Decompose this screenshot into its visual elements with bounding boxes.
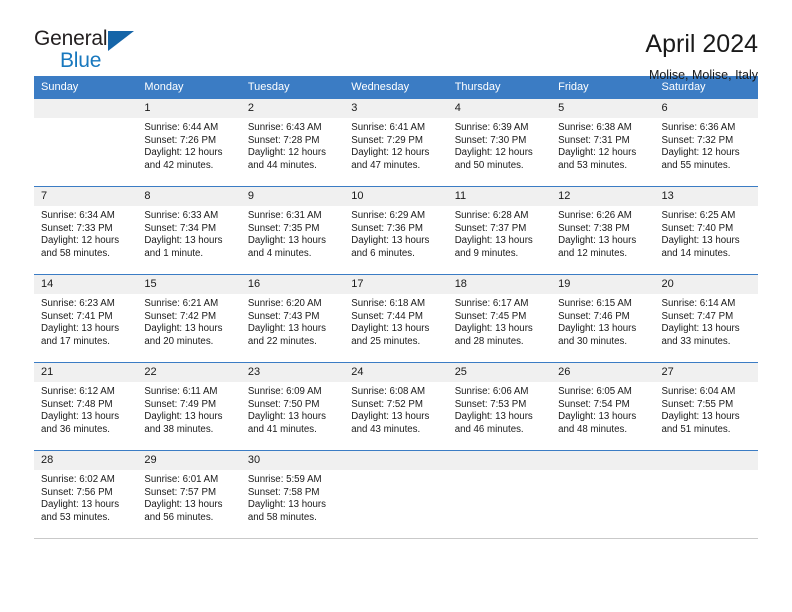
day-info-line: Daylight: 13 hours xyxy=(455,411,545,424)
day-cell[interactable]: 12Sunrise: 6:26 AMSunset: 7:38 PMDayligh… xyxy=(551,186,654,274)
day-info-line: Daylight: 13 hours xyxy=(558,411,648,424)
day-info-line: and 46 minutes. xyxy=(455,424,545,437)
day-info-line: Sunset: 7:38 PM xyxy=(558,223,648,236)
day-info-line: Sunset: 7:54 PM xyxy=(558,399,648,412)
day-sun-info: Sunrise: 6:02 AMSunset: 7:56 PMDaylight:… xyxy=(34,470,137,524)
day-cell[interactable]: 17Sunrise: 6:18 AMSunset: 7:44 PMDayligh… xyxy=(344,274,447,362)
day-info-line: Sunrise: 6:18 AM xyxy=(351,298,441,311)
day-number: 22 xyxy=(137,362,240,382)
day-info-line: Sunrise: 6:11 AM xyxy=(144,386,234,399)
day-cell[interactable]: 5Sunrise: 6:38 AMSunset: 7:31 PMDaylight… xyxy=(551,98,654,186)
weekday-header-monday: Monday xyxy=(137,76,240,98)
day-info-line: Sunset: 7:30 PM xyxy=(455,135,545,148)
day-info-line: and 55 minutes. xyxy=(662,160,752,173)
day-info-line: Sunset: 7:44 PM xyxy=(351,311,441,324)
day-info-line: and 56 minutes. xyxy=(144,512,234,525)
day-sun-info: Sunrise: 6:17 AMSunset: 7:45 PMDaylight:… xyxy=(448,294,551,348)
calendar-week-row: 21Sunrise: 6:12 AMSunset: 7:48 PMDayligh… xyxy=(34,362,758,450)
day-info-line: Sunset: 7:49 PM xyxy=(144,399,234,412)
day-info-line: and 22 minutes. xyxy=(248,336,338,349)
day-cell-empty xyxy=(655,450,758,538)
day-info-line: and 58 minutes. xyxy=(248,512,338,525)
day-number: 14 xyxy=(34,274,137,294)
day-cell[interactable]: 26Sunrise: 6:05 AMSunset: 7:54 PMDayligh… xyxy=(551,362,654,450)
day-number: 23 xyxy=(241,362,344,382)
day-sun-info: Sunrise: 6:23 AMSunset: 7:41 PMDaylight:… xyxy=(34,294,137,348)
day-info-line: Sunrise: 6:21 AM xyxy=(144,298,234,311)
day-cell-empty xyxy=(34,98,137,186)
day-info-line: Sunset: 7:37 PM xyxy=(455,223,545,236)
day-sun-info: Sunrise: 6:38 AMSunset: 7:31 PMDaylight:… xyxy=(551,118,654,172)
day-cell[interactable]: 6Sunrise: 6:36 AMSunset: 7:32 PMDaylight… xyxy=(655,98,758,186)
day-info-line: Sunset: 7:35 PM xyxy=(248,223,338,236)
day-info-line: Sunrise: 6:23 AM xyxy=(41,298,131,311)
weekday-header-wednesday: Wednesday xyxy=(344,76,447,98)
day-number: 8 xyxy=(137,186,240,206)
day-info-line: Sunrise: 6:33 AM xyxy=(144,210,234,223)
day-cell[interactable]: 24Sunrise: 6:08 AMSunset: 7:52 PMDayligh… xyxy=(344,362,447,450)
day-info-line: Daylight: 13 hours xyxy=(662,235,752,248)
day-sun-info: Sunrise: 6:09 AMSunset: 7:50 PMDaylight:… xyxy=(241,382,344,436)
day-info-line: and 14 minutes. xyxy=(662,248,752,261)
day-info-line: Daylight: 12 hours xyxy=(558,147,648,160)
day-number: 15 xyxy=(137,274,240,294)
day-sun-info: Sunrise: 6:01 AMSunset: 7:57 PMDaylight:… xyxy=(137,470,240,524)
calendar-week-row: 28Sunrise: 6:02 AMSunset: 7:56 PMDayligh… xyxy=(34,450,758,538)
day-sun-info: Sunrise: 6:31 AMSunset: 7:35 PMDaylight:… xyxy=(241,206,344,260)
day-sun-info: Sunrise: 6:04 AMSunset: 7:55 PMDaylight:… xyxy=(655,382,758,436)
day-sun-info: Sunrise: 6:18 AMSunset: 7:44 PMDaylight:… xyxy=(344,294,447,348)
day-info-line: Daylight: 12 hours xyxy=(351,147,441,160)
logo-text-blue: Blue xyxy=(60,50,101,71)
day-sun-info: Sunrise: 6:12 AMSunset: 7:48 PMDaylight:… xyxy=(34,382,137,436)
calendar-week-row: 1Sunrise: 6:44 AMSunset: 7:26 PMDaylight… xyxy=(34,98,758,186)
day-info-line: Sunrise: 6:15 AM xyxy=(558,298,648,311)
day-sun-info: Sunrise: 6:41 AMSunset: 7:29 PMDaylight:… xyxy=(344,118,447,172)
day-number: 12 xyxy=(551,186,654,206)
day-sun-info: Sunrise: 6:14 AMSunset: 7:47 PMDaylight:… xyxy=(655,294,758,348)
day-info-line: Sunrise: 6:41 AM xyxy=(351,122,441,135)
day-info-line: Daylight: 13 hours xyxy=(455,323,545,336)
day-info-line: Sunset: 7:26 PM xyxy=(144,135,234,148)
title-block: April 2024 Molise, Molise, Italy xyxy=(645,28,758,82)
day-number: 24 xyxy=(344,362,447,382)
day-number: 21 xyxy=(34,362,137,382)
day-info-line: and 17 minutes. xyxy=(41,336,131,349)
day-info-line: Daylight: 13 hours xyxy=(248,235,338,248)
day-number: 29 xyxy=(137,450,240,470)
day-info-line: Sunset: 7:45 PM xyxy=(455,311,545,324)
day-cell[interactable]: 22Sunrise: 6:11 AMSunset: 7:49 PMDayligh… xyxy=(137,362,240,450)
day-info-line: and 9 minutes. xyxy=(455,248,545,261)
weekday-header-tuesday: Tuesday xyxy=(241,76,344,98)
day-cell[interactable]: 8Sunrise: 6:33 AMSunset: 7:34 PMDaylight… xyxy=(137,186,240,274)
day-info-line: Daylight: 13 hours xyxy=(662,411,752,424)
day-sun-info: Sunrise: 6:39 AMSunset: 7:30 PMDaylight:… xyxy=(448,118,551,172)
day-info-line: Sunset: 7:28 PM xyxy=(248,135,338,148)
weekday-header-sunday: Sunday xyxy=(34,76,137,98)
day-info-line: Sunrise: 6:02 AM xyxy=(41,474,131,487)
day-info-line: Sunrise: 6:20 AM xyxy=(248,298,338,311)
day-cell[interactable]: 20Sunrise: 6:14 AMSunset: 7:47 PMDayligh… xyxy=(655,274,758,362)
day-info-line: Sunset: 7:55 PM xyxy=(662,399,752,412)
day-number: 11 xyxy=(448,186,551,206)
day-number: 13 xyxy=(655,186,758,206)
day-info-line: and 53 minutes. xyxy=(41,512,131,525)
day-number: 26 xyxy=(551,362,654,382)
day-info-line: Sunrise: 6:01 AM xyxy=(144,474,234,487)
day-info-line: Sunset: 7:50 PM xyxy=(248,399,338,412)
day-number: 20 xyxy=(655,274,758,294)
day-info-line: and 1 minute. xyxy=(144,248,234,261)
day-cell[interactable]: 10Sunrise: 6:29 AMSunset: 7:36 PMDayligh… xyxy=(344,186,447,274)
day-info-line: Daylight: 13 hours xyxy=(144,411,234,424)
day-cell[interactable]: 14Sunrise: 6:23 AMSunset: 7:41 PMDayligh… xyxy=(34,274,137,362)
day-info-line: Daylight: 12 hours xyxy=(455,147,545,160)
day-info-line: Sunset: 7:56 PM xyxy=(41,487,131,500)
day-cell-empty xyxy=(551,450,654,538)
day-sun-info: Sunrise: 6:34 AMSunset: 7:33 PMDaylight:… xyxy=(34,206,137,260)
day-info-line: Sunset: 7:34 PM xyxy=(144,223,234,236)
weekday-header-friday: Friday xyxy=(551,76,654,98)
day-info-line: Daylight: 13 hours xyxy=(41,411,131,424)
page-header: General Blue April 2024 Molise, Molise, … xyxy=(34,0,758,72)
day-info-line: Daylight: 13 hours xyxy=(351,411,441,424)
calendar-body: 1Sunrise: 6:44 AMSunset: 7:26 PMDaylight… xyxy=(34,98,758,538)
day-info-line: Daylight: 13 hours xyxy=(248,323,338,336)
day-info-line: Sunset: 7:31 PM xyxy=(558,135,648,148)
blue-triangle-icon xyxy=(108,31,134,51)
day-info-line: Sunset: 7:58 PM xyxy=(248,487,338,500)
day-number: 27 xyxy=(655,362,758,382)
day-info-line: Sunrise: 6:06 AM xyxy=(455,386,545,399)
day-info-line: Sunrise: 6:38 AM xyxy=(558,122,648,135)
day-info-line: and 51 minutes. xyxy=(662,424,752,437)
day-info-line: Daylight: 13 hours xyxy=(558,235,648,248)
day-cell[interactable]: 13Sunrise: 6:25 AMSunset: 7:40 PMDayligh… xyxy=(655,186,758,274)
day-sun-info: Sunrise: 6:43 AMSunset: 7:28 PMDaylight:… xyxy=(241,118,344,172)
day-cell[interactable]: 2Sunrise: 6:43 AMSunset: 7:28 PMDaylight… xyxy=(241,98,344,186)
day-info-line: Sunset: 7:33 PM xyxy=(41,223,131,236)
day-cell[interactable]: 28Sunrise: 6:02 AMSunset: 7:56 PMDayligh… xyxy=(34,450,137,538)
day-sun-info: Sunrise: 6:21 AMSunset: 7:42 PMDaylight:… xyxy=(137,294,240,348)
day-info-line: and 36 minutes. xyxy=(41,424,131,437)
day-info-line: Daylight: 13 hours xyxy=(248,499,338,512)
day-info-line: Sunset: 7:53 PM xyxy=(455,399,545,412)
day-cell[interactable]: 19Sunrise: 6:15 AMSunset: 7:46 PMDayligh… xyxy=(551,274,654,362)
day-number xyxy=(34,98,137,118)
day-info-line: Sunset: 7:40 PM xyxy=(662,223,752,236)
day-sun-info: Sunrise: 6:08 AMSunset: 7:52 PMDaylight:… xyxy=(344,382,447,436)
day-cell[interactable]: 9Sunrise: 6:31 AMSunset: 7:35 PMDaylight… xyxy=(241,186,344,274)
day-sun-info: Sunrise: 6:15 AMSunset: 7:46 PMDaylight:… xyxy=(551,294,654,348)
day-info-line: Sunrise: 6:44 AM xyxy=(144,122,234,135)
day-number: 1 xyxy=(137,98,240,118)
day-info-line: Sunrise: 6:36 AM xyxy=(662,122,752,135)
day-info-line: Sunrise: 6:43 AM xyxy=(248,122,338,135)
day-sun-info: Sunrise: 6:28 AMSunset: 7:37 PMDaylight:… xyxy=(448,206,551,260)
day-info-line: Sunset: 7:32 PM xyxy=(662,135,752,148)
day-info-line: Sunset: 7:42 PM xyxy=(144,311,234,324)
calendar-week-row: 7Sunrise: 6:34 AMSunset: 7:33 PMDaylight… xyxy=(34,186,758,274)
day-number xyxy=(344,450,447,470)
day-info-line: and 42 minutes. xyxy=(144,160,234,173)
day-info-line: Daylight: 12 hours xyxy=(41,235,131,248)
day-info-line: and 30 minutes. xyxy=(558,336,648,349)
day-number: 3 xyxy=(344,98,447,118)
day-info-line: Sunrise: 6:17 AM xyxy=(455,298,545,311)
day-info-line: and 43 minutes. xyxy=(351,424,441,437)
day-sun-info: Sunrise: 6:36 AMSunset: 7:32 PMDaylight:… xyxy=(655,118,758,172)
day-info-line: Sunrise: 6:04 AM xyxy=(662,386,752,399)
day-number: 30 xyxy=(241,450,344,470)
calendar-week-row: 14Sunrise: 6:23 AMSunset: 7:41 PMDayligh… xyxy=(34,274,758,362)
day-info-line: Daylight: 13 hours xyxy=(248,411,338,424)
day-cell[interactable]: 18Sunrise: 6:17 AMSunset: 7:45 PMDayligh… xyxy=(448,274,551,362)
day-info-line: and 28 minutes. xyxy=(455,336,545,349)
day-info-line: and 41 minutes. xyxy=(248,424,338,437)
day-info-line: Sunrise: 5:59 AM xyxy=(248,474,338,487)
day-info-line: Sunset: 7:43 PM xyxy=(248,311,338,324)
day-cell[interactable]: 7Sunrise: 6:34 AMSunset: 7:33 PMDaylight… xyxy=(34,186,137,274)
day-cell[interactable]: 25Sunrise: 6:06 AMSunset: 7:53 PMDayligh… xyxy=(448,362,551,450)
day-info-line: Sunrise: 6:25 AM xyxy=(662,210,752,223)
day-number xyxy=(551,450,654,470)
day-info-line: Sunrise: 6:14 AM xyxy=(662,298,752,311)
day-info-line: Daylight: 13 hours xyxy=(144,499,234,512)
day-cell[interactable]: 29Sunrise: 6:01 AMSunset: 7:57 PMDayligh… xyxy=(137,450,240,538)
day-info-line: and 58 minutes. xyxy=(41,248,131,261)
day-number: 17 xyxy=(344,274,447,294)
day-info-line: Sunrise: 6:34 AM xyxy=(41,210,131,223)
day-number: 5 xyxy=(551,98,654,118)
day-info-line: and 47 minutes. xyxy=(351,160,441,173)
day-info-line: Sunrise: 6:26 AM xyxy=(558,210,648,223)
bottom-divider xyxy=(34,538,758,539)
day-info-line: Sunset: 7:36 PM xyxy=(351,223,441,236)
day-cell[interactable]: 23Sunrise: 6:09 AMSunset: 7:50 PMDayligh… xyxy=(241,362,344,450)
day-sun-info: Sunrise: 6:25 AMSunset: 7:40 PMDaylight:… xyxy=(655,206,758,260)
day-number: 25 xyxy=(448,362,551,382)
day-info-line: and 12 minutes. xyxy=(558,248,648,261)
day-info-line: Sunrise: 6:05 AM xyxy=(558,386,648,399)
day-info-line: and 48 minutes. xyxy=(558,424,648,437)
day-info-line: and 6 minutes. xyxy=(351,248,441,261)
day-info-line: and 44 minutes. xyxy=(248,160,338,173)
day-cell[interactable]: 11Sunrise: 6:28 AMSunset: 7:37 PMDayligh… xyxy=(448,186,551,274)
day-cell-empty xyxy=(448,450,551,538)
day-info-line: Sunset: 7:48 PM xyxy=(41,399,131,412)
day-info-line: Daylight: 13 hours xyxy=(41,499,131,512)
day-cell-empty xyxy=(344,450,447,538)
day-sun-info: Sunrise: 6:44 AMSunset: 7:26 PMDaylight:… xyxy=(137,118,240,172)
calendar-page: General Blue April 2024 Molise, Molise, … xyxy=(0,0,792,612)
day-info-line: Sunrise: 6:29 AM xyxy=(351,210,441,223)
day-info-line: Daylight: 12 hours xyxy=(248,147,338,160)
day-number: 28 xyxy=(34,450,137,470)
day-sun-info: Sunrise: 5:59 AMSunset: 7:58 PMDaylight:… xyxy=(241,470,344,524)
day-info-line: and 20 minutes. xyxy=(144,336,234,349)
day-info-line: Daylight: 12 hours xyxy=(144,147,234,160)
page-subtitle: Molise, Molise, Italy xyxy=(645,68,758,82)
day-info-line: Sunrise: 6:08 AM xyxy=(351,386,441,399)
day-info-line: Daylight: 13 hours xyxy=(144,323,234,336)
day-cell[interactable]: 16Sunrise: 6:20 AMSunset: 7:43 PMDayligh… xyxy=(241,274,344,362)
day-info-line: Sunset: 7:47 PM xyxy=(662,311,752,324)
day-info-line: Sunrise: 6:31 AM xyxy=(248,210,338,223)
day-number: 10 xyxy=(344,186,447,206)
day-number: 9 xyxy=(241,186,344,206)
page-title: April 2024 xyxy=(645,30,758,59)
day-cell[interactable]: 30Sunrise: 5:59 AMSunset: 7:58 PMDayligh… xyxy=(241,450,344,538)
day-info-line: and 50 minutes. xyxy=(455,160,545,173)
logo-text-general: General xyxy=(34,27,107,50)
day-number: 16 xyxy=(241,274,344,294)
day-info-line: Sunrise: 6:39 AM xyxy=(455,122,545,135)
day-info-line: and 25 minutes. xyxy=(351,336,441,349)
day-cell[interactable]: 1Sunrise: 6:44 AMSunset: 7:26 PMDaylight… xyxy=(137,98,240,186)
day-number: 7 xyxy=(34,186,137,206)
day-sun-info: Sunrise: 6:26 AMSunset: 7:38 PMDaylight:… xyxy=(551,206,654,260)
day-cell[interactable]: 21Sunrise: 6:12 AMSunset: 7:48 PMDayligh… xyxy=(34,362,137,450)
day-number: 18 xyxy=(448,274,551,294)
day-cell[interactable]: 3Sunrise: 6:41 AMSunset: 7:29 PMDaylight… xyxy=(344,98,447,186)
day-number: 4 xyxy=(448,98,551,118)
day-info-line: and 53 minutes. xyxy=(558,160,648,173)
day-info-line: and 4 minutes. xyxy=(248,248,338,261)
day-info-line: Daylight: 13 hours xyxy=(144,235,234,248)
day-sun-info: Sunrise: 6:11 AMSunset: 7:49 PMDaylight:… xyxy=(137,382,240,436)
day-info-line: and 33 minutes. xyxy=(662,336,752,349)
day-number xyxy=(448,450,551,470)
day-number: 19 xyxy=(551,274,654,294)
weekday-header-thursday: Thursday xyxy=(448,76,551,98)
day-cell[interactable]: 4Sunrise: 6:39 AMSunset: 7:30 PMDaylight… xyxy=(448,98,551,186)
day-cell[interactable]: 15Sunrise: 6:21 AMSunset: 7:42 PMDayligh… xyxy=(137,274,240,362)
day-info-line: and 38 minutes. xyxy=(144,424,234,437)
day-info-line: Sunset: 7:41 PM xyxy=(41,311,131,324)
day-number: 2 xyxy=(241,98,344,118)
day-info-line: Daylight: 13 hours xyxy=(351,323,441,336)
day-info-line: Daylight: 13 hours xyxy=(41,323,131,336)
day-sun-info: Sunrise: 6:06 AMSunset: 7:53 PMDaylight:… xyxy=(448,382,551,436)
day-info-line: Sunset: 7:57 PM xyxy=(144,487,234,500)
day-number xyxy=(655,450,758,470)
day-info-line: Sunrise: 6:09 AM xyxy=(248,386,338,399)
day-cell[interactable]: 27Sunrise: 6:04 AMSunset: 7:55 PMDayligh… xyxy=(655,362,758,450)
day-info-line: Sunset: 7:46 PM xyxy=(558,311,648,324)
general-blue-logo[interactable]: General Blue xyxy=(34,28,154,76)
day-sun-info: Sunrise: 6:20 AMSunset: 7:43 PMDaylight:… xyxy=(241,294,344,348)
day-sun-info: Sunrise: 6:33 AMSunset: 7:34 PMDaylight:… xyxy=(137,206,240,260)
day-info-line: Daylight: 12 hours xyxy=(662,147,752,160)
day-sun-info: Sunrise: 6:29 AMSunset: 7:36 PMDaylight:… xyxy=(344,206,447,260)
day-sun-info: Sunrise: 6:05 AMSunset: 7:54 PMDaylight:… xyxy=(551,382,654,436)
day-info-line: Sunrise: 6:28 AM xyxy=(455,210,545,223)
day-info-line: Daylight: 13 hours xyxy=(351,235,441,248)
day-info-line: Daylight: 13 hours xyxy=(558,323,648,336)
calendar-grid: Sunday Monday Tuesday Wednesday Thursday… xyxy=(34,76,758,538)
day-info-line: Sunrise: 6:12 AM xyxy=(41,386,131,399)
day-info-line: Sunset: 7:29 PM xyxy=(351,135,441,148)
day-info-line: Daylight: 13 hours xyxy=(455,235,545,248)
day-number: 6 xyxy=(655,98,758,118)
day-info-line: Daylight: 13 hours xyxy=(662,323,752,336)
day-info-line: Sunset: 7:52 PM xyxy=(351,399,441,412)
